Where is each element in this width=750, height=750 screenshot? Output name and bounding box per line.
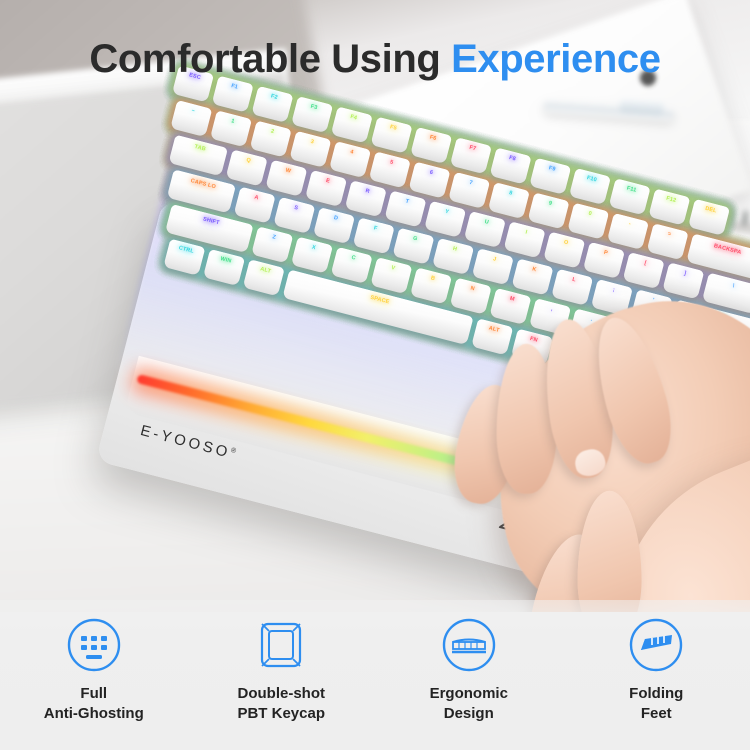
feature-pbt-keycap[interactable]: Double-shot PBT Keycap xyxy=(197,616,365,724)
feature-label-line1: Ergonomic xyxy=(385,684,553,704)
feature-label-line1: Double-shot xyxy=(197,684,365,704)
feature-label-line2: Design xyxy=(385,704,553,724)
feature-label-line1: Folding xyxy=(572,684,740,704)
feature-ergonomic-design[interactable]: Ergonomic Design xyxy=(385,616,553,724)
headline-accent: Experience xyxy=(451,37,660,81)
ergonomic-icon xyxy=(385,616,553,674)
feature-label: Double-shot PBT Keycap xyxy=(197,684,365,724)
anti-ghosting-icon xyxy=(10,616,178,674)
trademark-symbol: ® xyxy=(230,447,237,455)
mechanical-keyboard: ESCF1F2F3F4F5F6F7F8F9F10F11F12DEL~123456… xyxy=(100,130,750,600)
product-photo: ESCF1F2F3F4F5F6F7F8F9F10F11F12DEL~123456… xyxy=(0,0,750,612)
headline: Comfortable Using Experience xyxy=(0,38,750,80)
headline-primary: Comfortable Using xyxy=(89,37,451,81)
feature-label-line2: Anti-Ghosting xyxy=(10,704,178,724)
keycap-icon xyxy=(197,616,365,674)
feature-label: Folding Feet xyxy=(572,684,740,724)
feature-folding-feet[interactable]: Folding Feet xyxy=(572,616,740,724)
feature-label-line2: Feet xyxy=(572,704,740,724)
feature-anti-ghosting[interactable]: Full Anti-Ghosting xyxy=(10,616,178,724)
feature-label-line2: PBT Keycap xyxy=(197,704,365,724)
product-banner: ESCF1F2F3F4F5F6F7F8F9F10F11F12DEL~123456… xyxy=(0,0,750,750)
feature-bar: Full Anti-Ghosting Double-shot PBT Keyca… xyxy=(0,600,750,750)
feature-label: Full Anti-Ghosting xyxy=(10,684,178,724)
feature-label-line1: Full xyxy=(10,684,178,704)
feature-label: Ergonomic Design xyxy=(385,684,553,724)
folding-feet-icon xyxy=(572,616,740,674)
